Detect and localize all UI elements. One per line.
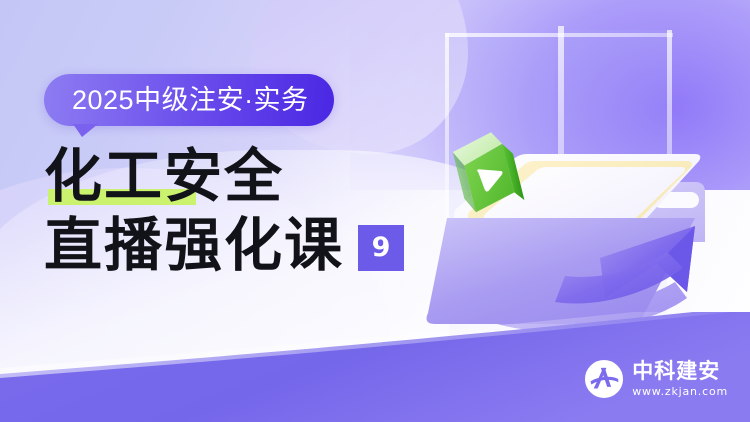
brand-name: 中科建安 [632, 360, 728, 383]
zkjan-circle-logo-icon [585, 360, 623, 398]
headline-line-1: 化工安全 [44, 146, 284, 207]
headline-line-1-row: 化工安全 [44, 146, 404, 207]
pill-badge-tail [73, 124, 98, 137]
pill-badge: 2025中级注安·实务 [44, 74, 334, 126]
episode-number-badge: 9 [358, 225, 404, 271]
headline-line-2-row: 直播强化课 9 [44, 215, 404, 276]
course-illustration [395, 30, 750, 360]
headline-line-2: 直播强化课 [44, 215, 344, 276]
brand-text-block: 中科建安 www.zkjan.com [632, 360, 728, 398]
brand-url: www.zkjan.com [632, 385, 728, 398]
pill-badge-label: 2025中级注安·实务 [72, 87, 309, 114]
course-promo-banner: 2025中级注安·实务 化工安全 直播强化课 9 中科建安 www.zk [0, 0, 750, 422]
headline-block: 化工安全 直播强化课 9 [44, 146, 404, 277]
brand-logo: 中科建安 www.zkjan.com [585, 360, 728, 398]
course-category-badge: 2025中级注安·实务 [44, 74, 334, 126]
